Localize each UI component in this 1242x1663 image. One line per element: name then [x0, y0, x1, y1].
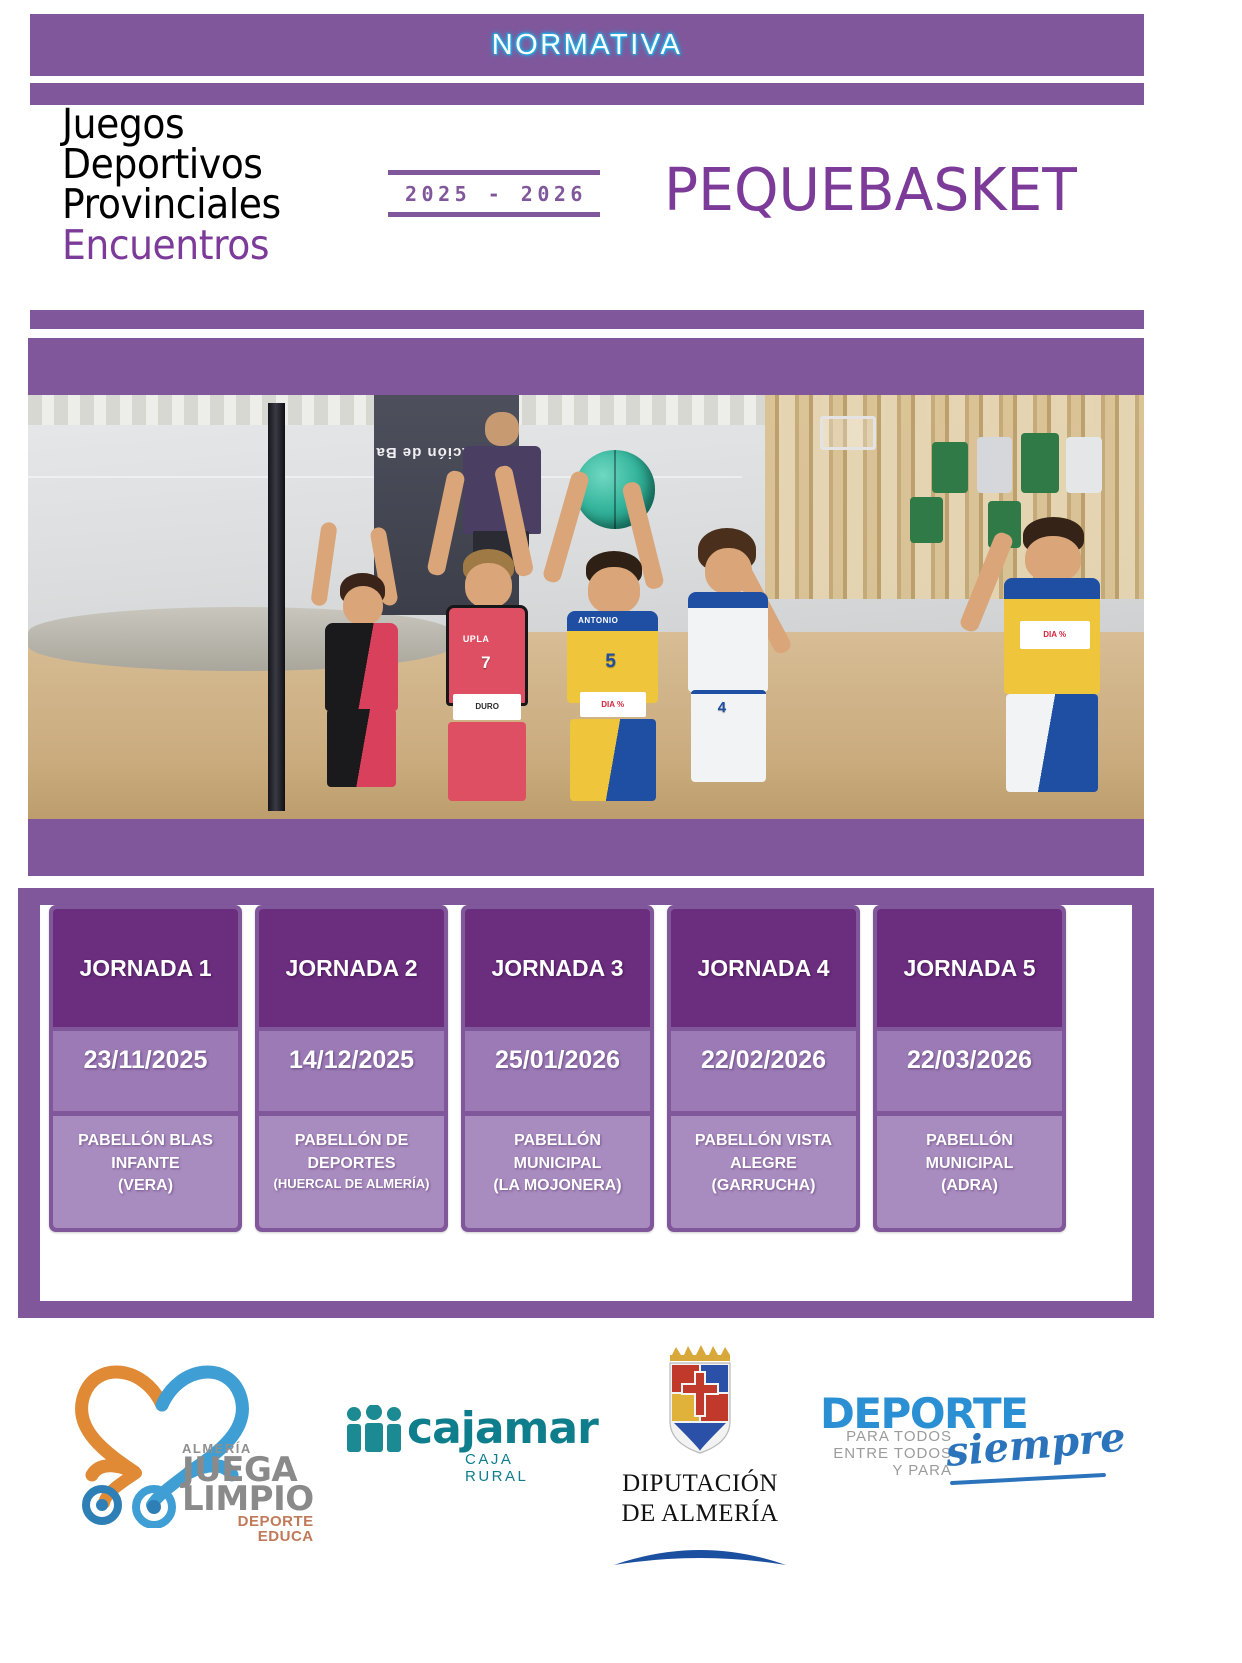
photo-frame: Federación de Ba [28, 338, 1144, 876]
limpio-label: LIMPIO [182, 1485, 314, 1514]
player-jersey [688, 592, 768, 693]
season-label: 2025 - 2026 [388, 175, 600, 212]
jornada-venue-name: PABELLÓN MUNICIPAL [471, 1130, 644, 1175]
cajamar-subtitle: CAJA RURAL [465, 1451, 577, 1485]
jornada-venue-name: PABELLÓN BLAS INFANTE [59, 1130, 232, 1175]
deporte-siempre-logo: DEPORTE PARA TODOS ENTRE TODOS Y PARA si… [820, 1389, 1110, 1499]
normativa-label: NORMATIVA [492, 29, 683, 62]
jornada-title: JORNADA 2 [285, 955, 417, 982]
jornada-card-venue: PABELLÓN MUNICIPAL (LA MOJONERA) [465, 1116, 650, 1228]
player-head [1025, 536, 1081, 582]
jersey-team-name: UPLA [463, 634, 490, 644]
jersey-player-name: ANTONIO [578, 616, 618, 625]
jornada-card-date: 22/02/2026 [671, 1031, 856, 1111]
jornada-venue-city: (ADRA) [883, 1175, 1056, 1198]
jornada-card-venue: PABELLÓN DE DEPORTES (HUERCAL DE ALMERÍA… [259, 1116, 444, 1228]
hoop-pole [268, 403, 285, 810]
jornada-title: JORNADA 3 [491, 955, 623, 982]
player-black-red [307, 556, 419, 802]
player-yellow-right: DIA % [988, 505, 1122, 810]
jornada-card[interactable]: JORNADA 2 14/12/2025 PABELLÓN DE DEPORTE… [255, 905, 448, 1232]
jornada-card[interactable]: JORNADA 1 23/11/2025 PABELLÓN BLAS INFAN… [49, 905, 242, 1232]
deporte-tagline-line1: PARA TODOS [822, 1429, 952, 1446]
jornada-card-date: 14/12/2025 [259, 1031, 444, 1111]
jornada-card[interactable]: JORNADA 5 22/03/2026 PABELLÓN MUNICIPAL … [873, 905, 1066, 1232]
jornada-title: JORNADA 4 [697, 955, 829, 982]
jornada-venue-name: PABELLÓN MUNICIPAL [883, 1130, 1056, 1175]
player-shorts [1006, 694, 1097, 792]
jornada-venue-city: (HUERCAL DE ALMERÍA) [265, 1175, 438, 1193]
jornada-date: 22/02/2026 [701, 1046, 826, 1075]
jornada-card-header: JORNADA 2 [259, 909, 444, 1027]
jornada-venue-city: (VERA) [59, 1175, 232, 1198]
decorative-bar-below-photo [28, 820, 1144, 876]
player-jersey: ANTONIO 5 [567, 611, 658, 703]
player-jersey: UPLA 7 [446, 605, 528, 706]
jornada-venue-city: (GARRUCHA) [677, 1175, 850, 1198]
jornada-cards: JORNADA 1 23/11/2025 PABELLÓN BLAS INFAN… [49, 905, 1079, 1232]
cajamar-wordmark: cajamar [407, 1403, 598, 1454]
player-red-upla: UPLA 7 DURO [430, 526, 547, 806]
background-player [977, 437, 1013, 492]
diputacion-line2: DE ALMERÍA [610, 1499, 790, 1529]
jornada-title: JORNADA 1 [79, 955, 211, 982]
jersey-number: 7 [481, 653, 490, 673]
jornada-date: 14/12/2025 [289, 1046, 414, 1075]
player-jersey [325, 623, 399, 712]
jornada-card-venue: PABELLÓN VISTA ALEGRE (GARRUCHA) [671, 1116, 856, 1228]
decorative-bar-top [30, 83, 1144, 105]
coat-of-arms-icon [610, 1343, 790, 1469]
player-blue-antonio: ANTONIO 5 DIA % [553, 535, 676, 806]
brand-line-encuentros: Encuentros [62, 225, 338, 265]
player-head [465, 563, 512, 608]
diputacion-logo: DIPUTACIÓN DE ALMERÍA [610, 1343, 790, 1573]
jornada-card-date: 25/01/2026 [465, 1031, 650, 1111]
jersey-sponsor: DIA % [580, 692, 646, 716]
player-head [588, 567, 640, 613]
brand-logo: Juegos Deportivos Provinciales Encuentro… [62, 104, 362, 265]
player-shorts: 4 [691, 690, 766, 782]
jornada-date: 22/03/2026 [907, 1046, 1032, 1075]
jornada-card[interactable]: JORNADA 4 22/02/2026 PABELLÓN VISTA ALEG… [667, 905, 860, 1232]
background-player [1021, 433, 1059, 492]
basketball-photo: Federación de Ba [28, 395, 1144, 819]
people-icon [345, 1405, 403, 1455]
jornada-venue-name: PABELLÓN VISTA ALEGRE [677, 1130, 850, 1175]
diputacion-swoosh [612, 1539, 788, 1569]
jornada-venue-name: PABELLÓN DE DEPORTES [265, 1130, 438, 1175]
diputacion-wordmark: DIPUTACIÓN DE ALMERÍA [610, 1469, 790, 1528]
brand-line-juegos: Juegos [62, 104, 338, 144]
jersey-number: 5 [605, 651, 616, 673]
deporte-tagline-line3: Y PARA [822, 1463, 952, 1480]
jornada-card-header: JORNADA 5 [877, 909, 1062, 1027]
jersey-sponsor: DIA % [1020, 621, 1090, 648]
jornada-card-header: JORNADA 1 [53, 909, 238, 1027]
jornada-date: 23/11/2025 [84, 1046, 208, 1075]
jornada-venue-city: (LA MOJONERA) [471, 1175, 644, 1198]
jornada-card[interactable]: JORNADA 3 25/01/2026 PABELLÓN MUNICIPAL … [461, 905, 654, 1232]
sponsor-row: ALMERÍA JUEGA LIMPIO DEPORTE EDUCA ca [0, 1325, 1242, 1663]
shorts-number: 4 [718, 699, 726, 716]
poster-root: NORMATIVA Juegos Deportivos Provinciales… [0, 0, 1242, 1663]
season-rule-bottom [388, 212, 600, 217]
background-player [1066, 437, 1102, 492]
cajamar-logo: cajamar CAJA RURAL [345, 1403, 577, 1473]
juega-limpio-wordmark: ALMERÍA JUEGA LIMPIO DEPORTE EDUCA [182, 1441, 314, 1544]
far-hoop-icon [820, 416, 876, 450]
adult-head [485, 412, 519, 446]
season-badge: 2025 - 2026 [388, 170, 600, 217]
jornada-card-date: 22/03/2026 [877, 1031, 1062, 1111]
siempre-underline [950, 1473, 1106, 1485]
decorative-bar-mid [30, 310, 1144, 329]
player-shorts [570, 719, 656, 800]
player-shorts [327, 709, 396, 788]
page-title: PEQUEBASKET [664, 155, 1077, 224]
jornada-card-venue: PABELLÓN BLAS INFANTE (VERA) [53, 1116, 238, 1228]
jornada-card-header: JORNADA 3 [465, 909, 650, 1027]
sponsor-footer: ALMERÍA JUEGA LIMPIO DEPORTE EDUCA ca [0, 1325, 1242, 1663]
juega-limpio-logo: ALMERÍA JUEGA LIMPIO DEPORTE EDUCA [62, 1343, 307, 1543]
player-shorts [448, 722, 525, 800]
jornada-title: JORNADA 5 [903, 955, 1035, 982]
brand-line-deportivos: Deportivos [62, 144, 338, 184]
jornada-card-date: 23/11/2025 [53, 1031, 238, 1111]
juega-educa-label: EDUCA [182, 1529, 314, 1544]
deporte-tagline-line2: ENTRE TODOS [822, 1446, 952, 1463]
deporte-tagline: PARA TODOS ENTRE TODOS Y PARA [822, 1429, 952, 1479]
jornada-card-header: JORNADA 4 [671, 909, 856, 1027]
normativa-banner[interactable]: NORMATIVA [30, 14, 1144, 76]
player-white-blue-girl: 4 [670, 514, 787, 802]
brand-line-provinciales: Provinciales [62, 184, 338, 224]
diputacion-line1: DIPUTACIÓN [610, 1469, 790, 1499]
schedule-panel: JORNADA 1 23/11/2025 PABELLÓN BLAS INFAN… [18, 888, 1154, 1318]
background-player [932, 442, 968, 493]
jersey-sponsor: DURO [453, 694, 521, 719]
jornada-card-venue: PABELLÓN MUNICIPAL (ADRA) [877, 1116, 1062, 1228]
jornada-date: 25/01/2026 [495, 1046, 620, 1075]
player-head [343, 586, 383, 625]
background-player [910, 497, 943, 544]
player-head [705, 548, 752, 594]
